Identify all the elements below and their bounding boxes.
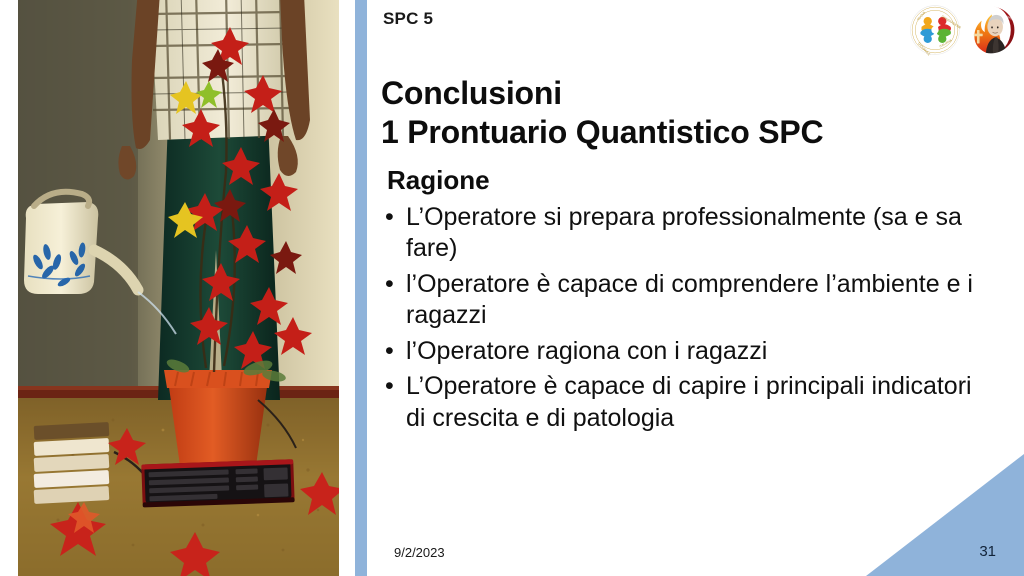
list-item: • l’Operatore è capace di comprendere l’… bbox=[381, 269, 991, 332]
footer-date: 9/2/2023 bbox=[394, 545, 445, 560]
list-item: • L’Operatore si prepara professionalmen… bbox=[381, 202, 991, 265]
bullet-marker-icon: • bbox=[385, 336, 394, 368]
list-item: • l’Operatore ragiona con i ragazzi bbox=[381, 336, 991, 368]
bullet-marker-icon: • bbox=[385, 371, 394, 403]
corner-triangle-decoration bbox=[866, 454, 1024, 576]
list-item: • L’Operatore è capace di capire i princ… bbox=[381, 371, 991, 434]
founder-flame-logo: BICENTENARIO bbox=[965, 4, 1017, 56]
slide-canvas: SPC 5 bbox=[0, 0, 1024, 576]
list-item-text: l’Operatore ragiona con i ragazzi bbox=[406, 337, 767, 365]
slide-header-label: SPC 5 bbox=[383, 9, 433, 29]
section-subtitle: Ragione bbox=[387, 165, 991, 196]
bullet-list: • L’Operatore si prepara professionalmen… bbox=[381, 202, 991, 435]
bullet-marker-icon: • bbox=[385, 269, 394, 301]
footer-page-number: 31 bbox=[979, 543, 996, 560]
title-line-1: Conclusioni bbox=[381, 74, 991, 113]
list-item-text: L’Operatore è capace di capire i princip… bbox=[406, 372, 972, 432]
logo-row: NUOVA GENERAZIONE GIOVANILE ITALIANA bbox=[909, 4, 1017, 56]
page-title: Conclusioni 1 Prontuario Quantistico SPC bbox=[381, 74, 991, 153]
title-line-2: 1 Prontuario Quantistico SPC bbox=[381, 113, 991, 152]
nuova-generazione-logo: NUOVA GENERAZIONE GIOVANILE ITALIANA bbox=[909, 4, 961, 56]
accent-bar bbox=[355, 0, 367, 576]
bullet-marker-icon: • bbox=[385, 202, 394, 234]
list-item-text: l’Operatore è capace di comprendere l’am… bbox=[406, 270, 973, 330]
slide-body: Conclusioni 1 Prontuario Quantistico SPC… bbox=[381, 74, 991, 438]
watering-plant-photo bbox=[18, 0, 339, 576]
list-item-text: L’Operatore si prepara professionalmente… bbox=[406, 203, 962, 263]
